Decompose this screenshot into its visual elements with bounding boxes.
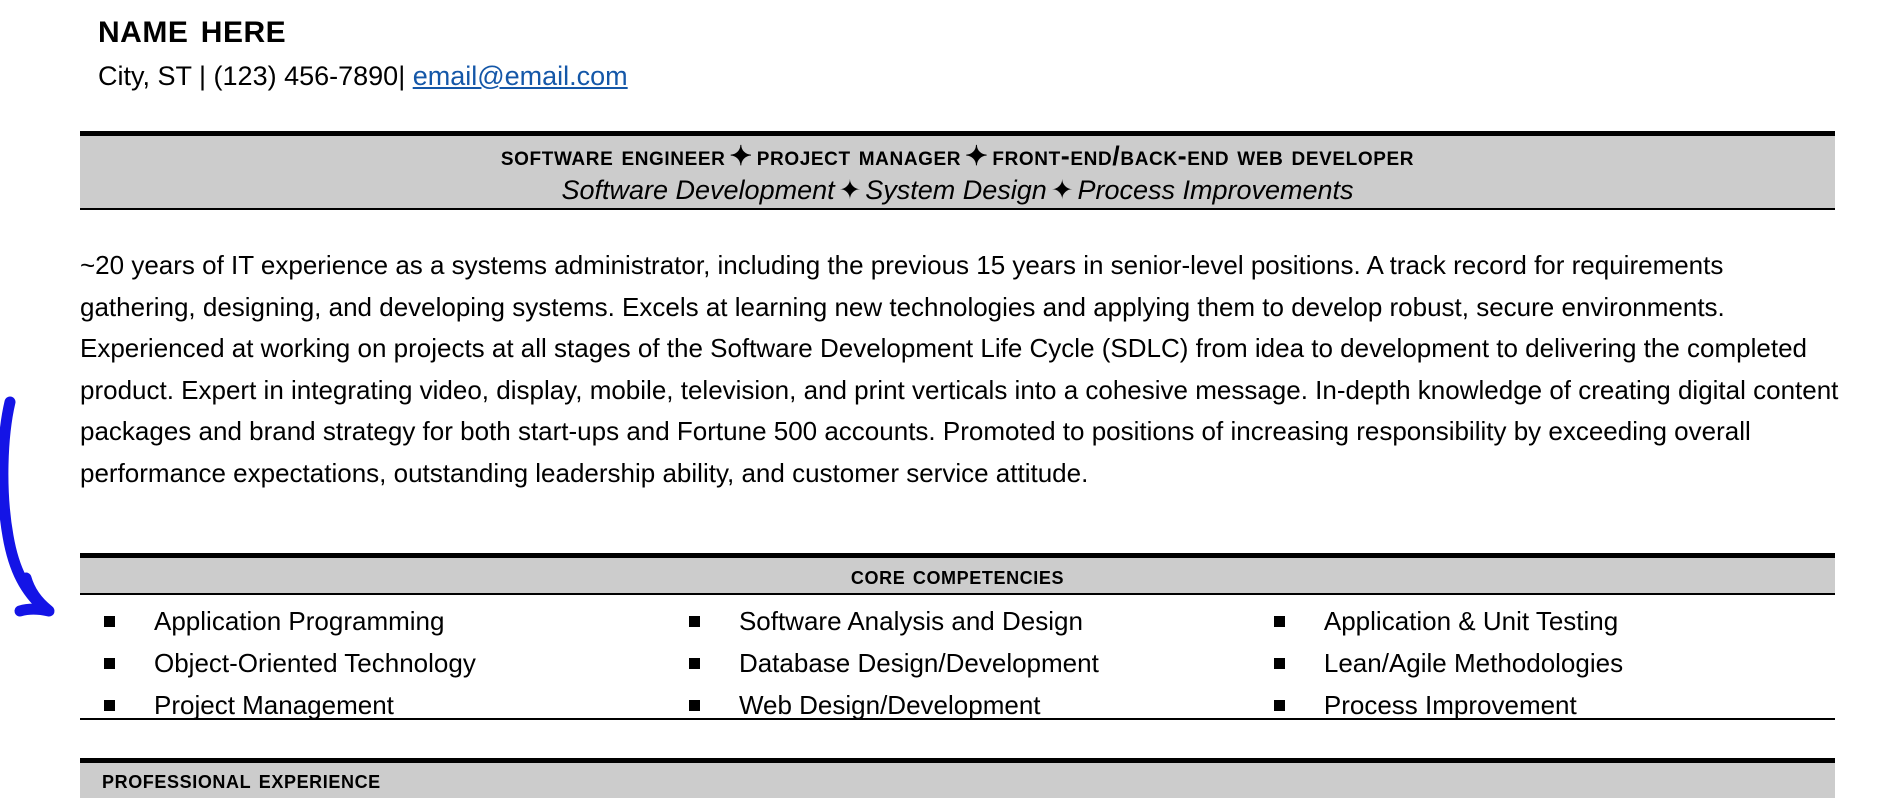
list-item: Database Design/Development bbox=[665, 642, 1250, 684]
section-divider bbox=[80, 718, 1835, 720]
professional-experience-bar: Professional Experience bbox=[80, 758, 1835, 798]
list-item: Application Programming bbox=[80, 600, 665, 642]
diamond-separator-icon: ✦ bbox=[1047, 175, 1078, 205]
title-project-manager: Project Manager bbox=[757, 141, 961, 171]
diamond-separator-icon: ✦ bbox=[725, 141, 756, 171]
square-bullet-icon bbox=[1274, 658, 1285, 669]
diamond-separator-icon: ✦ bbox=[835, 175, 866, 205]
square-bullet-icon bbox=[1274, 700, 1285, 711]
specialty-system-design: System Design bbox=[865, 175, 1047, 205]
list-item: Lean/Agile Methodologies bbox=[1250, 642, 1835, 684]
competency-label: Database Design/Development bbox=[739, 642, 1099, 684]
contact-phone: (123) 456-7890 bbox=[214, 61, 399, 91]
list-item: Application & Unit Testing bbox=[1250, 600, 1835, 642]
competency-column-1: Application Programming Object-Oriented … bbox=[80, 600, 665, 726]
square-bullet-icon bbox=[104, 658, 115, 669]
core-competencies-heading: Core Competencies bbox=[80, 558, 1835, 594]
contact-location: City, ST bbox=[98, 61, 192, 91]
contact-line: City, ST | (123) 456-7890| email@email.c… bbox=[98, 56, 1498, 96]
specialty-software-development: Software Development bbox=[561, 175, 834, 205]
specialties-line: Software Development✦System Design✦Proce… bbox=[80, 173, 1835, 208]
contact-email-link[interactable]: email@email.com bbox=[413, 61, 628, 91]
professional-titles-bar: Software Engineer✦Project Manager✦Front-… bbox=[80, 131, 1835, 210]
resume-header: Name Here City, ST | (123) 456-7890| ema… bbox=[98, 2, 1498, 96]
specialty-process-improvements: Process Improvements bbox=[1077, 175, 1353, 205]
competency-label: Lean/Agile Methodologies bbox=[1324, 642, 1623, 684]
competency-column-3: Application & Unit Testing Lean/Agile Me… bbox=[1250, 600, 1835, 726]
list-item: Object-Oriented Technology bbox=[80, 642, 665, 684]
competency-label: Application Programming bbox=[154, 600, 444, 642]
professional-titles-line: Software Engineer✦Project Manager✦Front-… bbox=[80, 139, 1835, 173]
square-bullet-icon bbox=[689, 658, 700, 669]
resume-page: Name Here City, ST | (123) 456-7890| ema… bbox=[0, 0, 1890, 787]
title-web-developer: Front-End/Back-End Web Developer bbox=[992, 141, 1414, 171]
diamond-separator-icon: ✦ bbox=[961, 141, 992, 171]
contact-divider-1: | bbox=[192, 61, 214, 91]
list-item: Software Analysis and Design bbox=[665, 600, 1250, 642]
candidate-name: Name Here bbox=[98, 2, 1498, 54]
square-bullet-icon bbox=[104, 616, 115, 627]
title-software-engineer: Software Engineer bbox=[501, 141, 726, 171]
square-bullet-icon bbox=[689, 700, 700, 711]
competency-label: Object-Oriented Technology bbox=[154, 642, 476, 684]
square-bullet-icon bbox=[689, 616, 700, 627]
professional-experience-heading: Professional Experience bbox=[80, 763, 1835, 798]
competency-label: Software Analysis and Design bbox=[739, 600, 1083, 642]
square-bullet-icon bbox=[1274, 616, 1285, 627]
core-competencies-columns: Application Programming Object-Oriented … bbox=[80, 600, 1835, 726]
competency-column-2: Software Analysis and Design Database De… bbox=[665, 600, 1250, 726]
competency-label: Application & Unit Testing bbox=[1324, 600, 1618, 642]
square-bullet-icon bbox=[104, 700, 115, 711]
contact-divider-2: | bbox=[398, 61, 413, 91]
core-competencies-bar: Core Competencies bbox=[80, 553, 1835, 595]
professional-summary: ~20 years of IT experience as a systems … bbox=[80, 245, 1840, 494]
